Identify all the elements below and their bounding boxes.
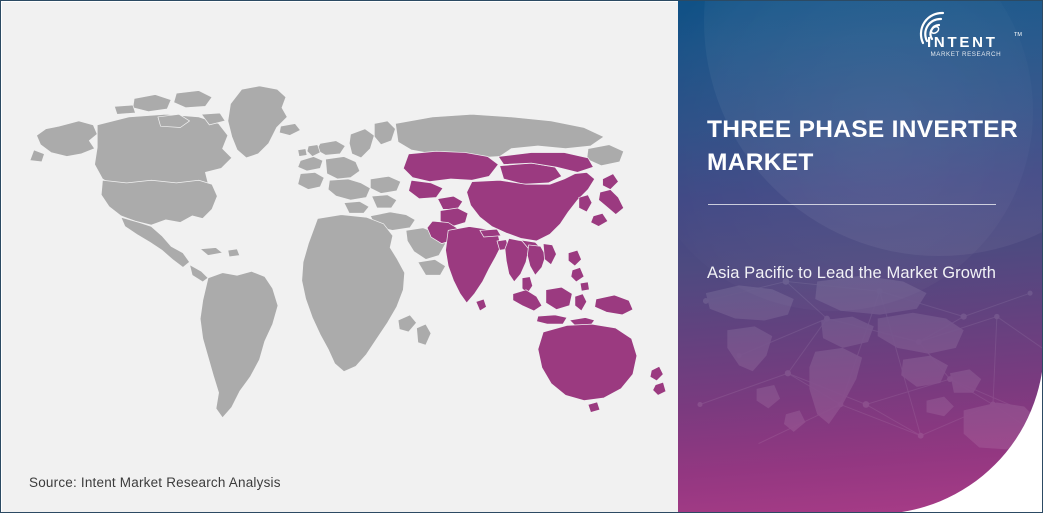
decorative-network-world-map	[678, 258, 1043, 508]
world-map-graphic	[10, 80, 670, 460]
svg-text:INTENT: INTENT	[927, 34, 998, 51]
title-panel: INTENT TM MARKET RESEARCH THREE PHASE IN…	[678, 1, 1043, 513]
world-map-panel: Source: Intent Market Research Analysis	[2, 2, 678, 513]
page-subtitle: Asia Pacific to Lead the Market Growth	[707, 259, 1025, 288]
brand-logo[interactable]: INTENT TM MARKET RESEARCH	[910, 10, 1026, 60]
infographic-root: Source: Intent Market Research Analysis	[0, 0, 1043, 513]
title-divider	[708, 204, 996, 205]
highlighted-asia-pacific-countries	[403, 151, 666, 412]
svg-text:MARKET RESEARCH: MARKET RESEARCH	[931, 51, 1002, 58]
source-label: Source: Intent Market Research Analysis	[29, 475, 281, 490]
svg-text:TM: TM	[1014, 32, 1022, 38]
page-title: THREE PHASE INVERTER MARKET	[707, 114, 1027, 179]
